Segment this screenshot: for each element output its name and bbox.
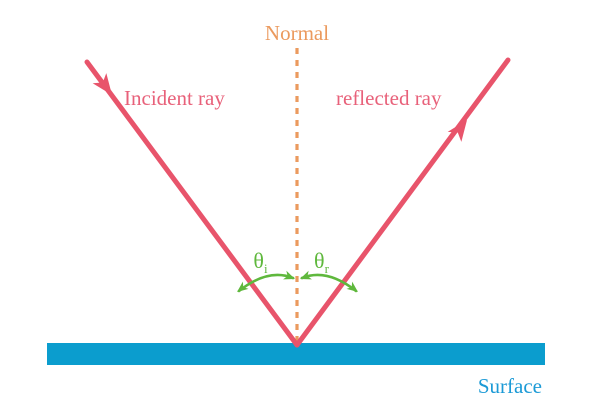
diagram-canvas: Normal Incident ray reflected ray θi θr … [0, 0, 614, 414]
angle-incidence-theta: θ [253, 248, 264, 273]
angle-reflection-theta: θ [314, 248, 325, 273]
surface-label: Surface [478, 374, 542, 398]
reflection-diagram: Normal Incident ray reflected ray θi θr … [0, 0, 614, 414]
angle-incidence-subscript: i [264, 261, 268, 276]
normal-label: Normal [265, 21, 329, 45]
incident-ray-label: Incident ray [124, 86, 225, 110]
angle-reflection-subscript: r [325, 261, 330, 276]
reflected-ray-label: reflected ray [336, 86, 442, 110]
